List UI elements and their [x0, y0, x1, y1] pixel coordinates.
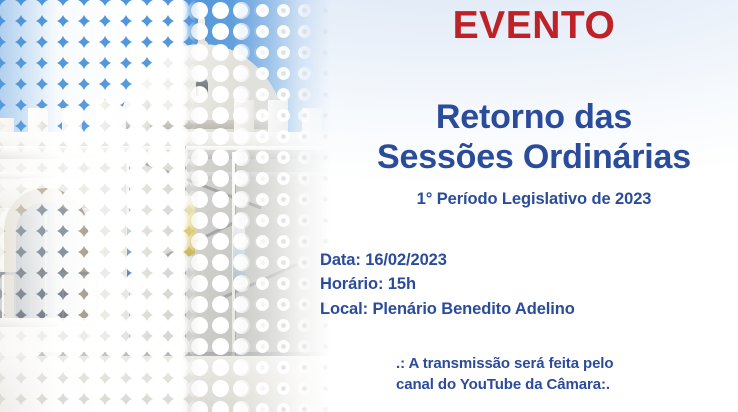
baluster	[14, 274, 16, 320]
event-title-line-1: Retorno das	[330, 98, 738, 138]
event-detail-place: Local: Plenário Benedito Adelino	[320, 297, 575, 321]
balcony-slab	[0, 318, 100, 327]
event-detail-date: Data: 16/02/2023	[320, 248, 575, 272]
event-subtitle-text: 1° Período Legislativo de 2023	[417, 190, 652, 208]
building-photo	[0, 0, 344, 412]
dome-window	[196, 78, 208, 96]
building-photo-inner	[0, 0, 344, 412]
broadcast-note: .: A transmissão será feita pelo canal d…	[396, 353, 613, 396]
flag-light	[233, 226, 245, 286]
baluster	[30, 274, 32, 320]
flag-blue	[127, 222, 139, 282]
baluster	[46, 274, 48, 320]
event-kicker-text: EVENTO	[453, 4, 616, 47]
event-kicker: EVENTO	[330, 6, 738, 47]
broadcast-note-line-2: canal do YouTube da Câmara:.	[396, 374, 613, 395]
event-detail-time: Horário: 15h	[320, 272, 575, 296]
event-title: Retorno das Sessões Ordinárias	[330, 98, 738, 178]
broadcast-note-line-1: .: A transmissão será feita pelo	[396, 353, 613, 374]
baluster	[78, 274, 80, 320]
base-wall	[0, 356, 344, 412]
event-details: Data: 16/02/2023 Horário: 15h Local: Ple…	[320, 248, 575, 321]
event-title-line-2: Sessões Ordinárias	[330, 138, 738, 178]
flag-yellow	[183, 196, 195, 256]
event-subtitle: 1° Período Legislativo de 2023	[330, 190, 738, 209]
event-poster: EVENTO Retorno das Sessões Ordinárias 1°…	[0, 0, 738, 412]
baluster	[62, 274, 64, 320]
